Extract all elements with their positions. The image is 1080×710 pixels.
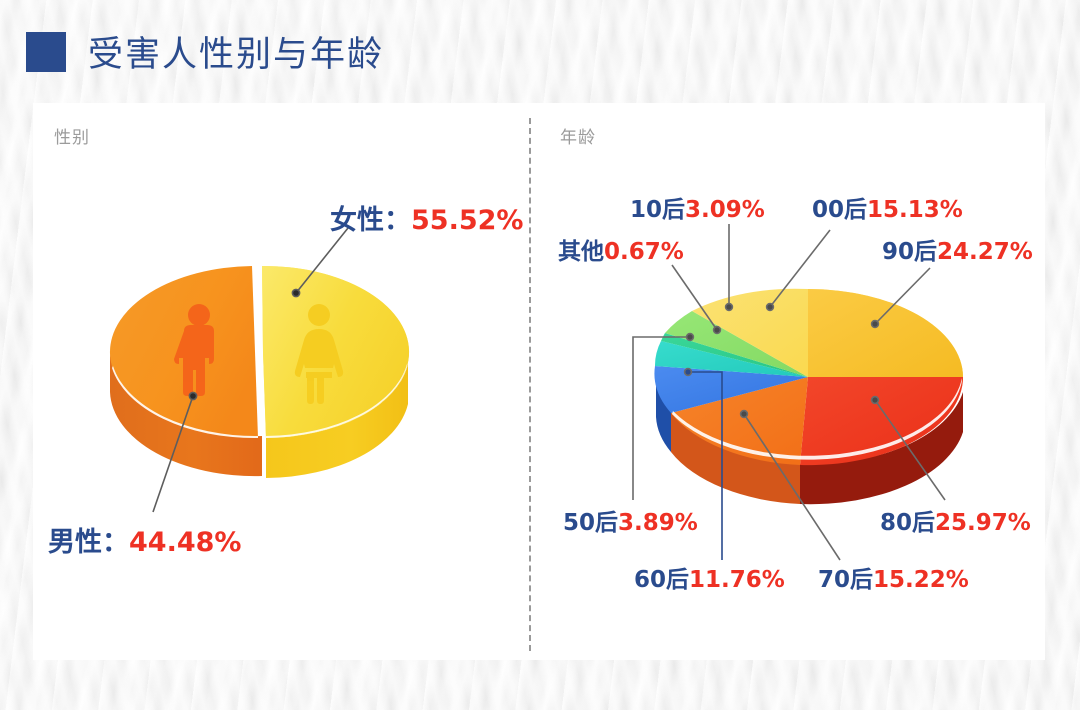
callout-10hou-category: 10后 [630, 197, 685, 223]
callout-male-category: 男性： [48, 527, 129, 558]
callout-00hou-value: 15.13% [867, 197, 963, 223]
panel-divider [529, 118, 531, 651]
callout-70hou-category: 70后 [818, 567, 873, 593]
callout-qita-category: 其他 [558, 239, 604, 265]
callout-70hou-value: 15.22% [873, 567, 969, 593]
callout-qita-value: 0.67% [604, 239, 684, 265]
callout-60hou-category: 60后 [634, 567, 689, 593]
callout-male: 男性：44.48% [48, 520, 241, 559]
callout-50hou-category: 50后 [563, 510, 618, 536]
callout-10hou: 10后3.09% [630, 190, 765, 224]
callout-90hou-category: 90后 [882, 239, 937, 265]
callout-female-category: 女性： [330, 205, 411, 236]
callout-50hou-value: 3.89% [618, 510, 698, 536]
panel-label-age: 年龄 [560, 123, 596, 148]
callout-male-value: 44.48% [129, 527, 241, 558]
callout-60hou: 60后11.76% [634, 560, 785, 594]
callout-90hou-value: 24.27% [937, 239, 1033, 265]
callout-qita: 其他0.67% [558, 232, 684, 266]
callout-00hou-category: 00后 [812, 197, 867, 223]
callout-60hou-value: 11.76% [689, 567, 785, 593]
callout-80hou-category: 80后 [880, 510, 935, 536]
callout-70hou: 70后15.22% [818, 560, 969, 594]
callout-90hou: 90后24.27% [882, 232, 1033, 266]
callout-female-value: 55.52% [411, 205, 523, 236]
callout-00hou: 00后15.13% [812, 190, 963, 224]
callout-50hou: 50后3.89% [563, 503, 698, 537]
callout-80hou: 80后25.97% [880, 503, 1031, 537]
panel-label-gender: 性别 [54, 123, 90, 148]
page-header: 受害人性别与年龄 [26, 26, 384, 77]
callout-80hou-value: 25.97% [935, 510, 1031, 536]
title-marker-square [26, 32, 66, 72]
callout-10hou-value: 3.09% [685, 197, 765, 223]
page-title: 受害人性别与年龄 [88, 26, 384, 77]
callout-female: 女性：55.52% [330, 198, 523, 237]
